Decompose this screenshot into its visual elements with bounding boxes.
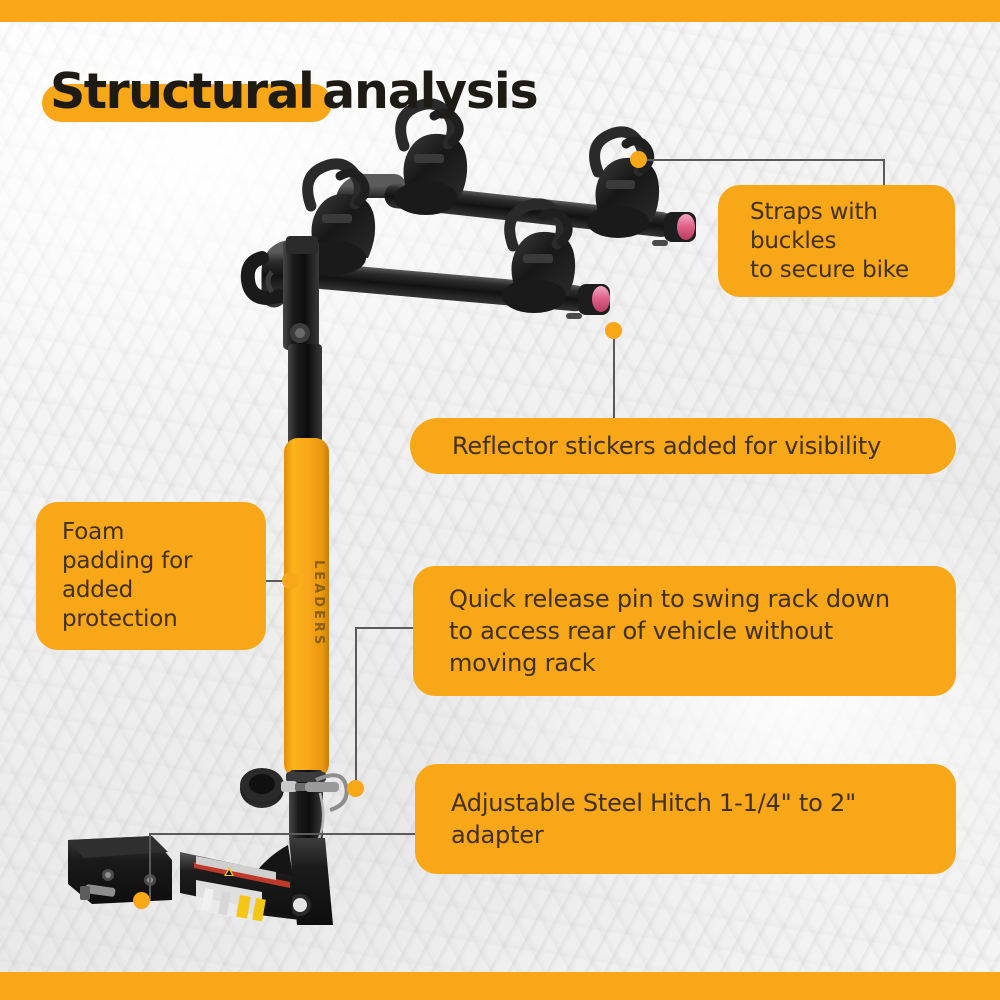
callout-straps-with-buckles[interactable]: Straps with buckles to secure bike — [718, 185, 955, 297]
title-word-structural: Structural — [50, 63, 313, 120]
bike-cradle-upper-right — [587, 132, 659, 238]
leader-adapter-horizontal — [149, 833, 417, 835]
adjustment-knob — [240, 770, 284, 808]
reflector-sticker-upper — [677, 214, 695, 240]
callout-line: added — [62, 576, 266, 605]
strap-lower-mid — [510, 204, 562, 246]
leader-straps-vertical — [883, 159, 885, 187]
rack-lower-arm — [248, 252, 610, 319]
callout-line: buckles — [750, 227, 955, 256]
reflector-sticker-lower — [592, 286, 610, 312]
callout-line: moving rack — [449, 647, 956, 679]
callout-line: Quick release pin to swing rack down — [449, 583, 956, 615]
strap-upper-left — [308, 164, 360, 206]
leader-reflector-vertical — [613, 338, 615, 420]
hotspot-dot-reflector — [605, 322, 622, 339]
page-title: Structuralanalysis — [50, 58, 537, 124]
pivot-bolt — [290, 323, 310, 343]
svg-text:LEADERS: LEADERS — [311, 560, 326, 647]
buckle-lower-mid — [523, 254, 553, 263]
hitch-shank — [180, 852, 292, 916]
hotspot-dot-quick-release — [347, 780, 364, 797]
stripe-decal — [194, 862, 290, 888]
hitch-pin-clip — [316, 775, 347, 810]
rack-upper-arm — [347, 182, 696, 246]
buckle-upper-right — [606, 180, 635, 189]
gusset-plate — [235, 845, 300, 920]
rack-mast: LEADERS — [283, 236, 329, 840]
foam-padding — [284, 438, 329, 778]
callout-line: adapter — [451, 819, 956, 851]
callout-line: Straps with — [750, 198, 955, 227]
title-text: Structuralanalysis — [50, 63, 537, 120]
callout-line: protection — [62, 605, 266, 634]
buckle-upper-left — [322, 214, 352, 223]
title-word-analysis: analysis — [322, 63, 537, 120]
infographic-page: Structuralanalysis — [0, 0, 1000, 1000]
callout-reflector-stickers[interactable]: Reflector stickers added for visibility — [410, 418, 956, 474]
leader-quick-vertical — [355, 627, 357, 789]
callout-line: Reflector stickers added for visibility — [452, 432, 956, 461]
callout-line: Adjustable Steel Hitch 1-1/4" to 2" — [451, 787, 956, 819]
hotspot-dot-foam — [282, 572, 299, 589]
hitch-base — [68, 836, 333, 925]
warning-label — [196, 880, 262, 922]
callout-line: Foam — [62, 518, 266, 547]
callout-quick-release-pin[interactable]: Quick release pin to swing rack down to … — [413, 566, 956, 696]
hotspot-dot-straps — [630, 151, 647, 168]
callout-foam-padding[interactable]: Foam padding for added protection — [36, 502, 266, 650]
callout-line: to secure bike — [750, 256, 955, 285]
leader-straps-horizontal — [645, 159, 884, 161]
bottom-accent-bar — [0, 972, 1000, 1000]
bike-cradle-lower-mid — [502, 204, 575, 313]
quick-release-assembly — [240, 768, 347, 875]
hitch-receiver — [68, 836, 172, 904]
callout-line: padding for — [62, 547, 266, 576]
callout-adjustable-steel-hitch[interactable]: Adjustable Steel Hitch 1-1/4" to 2" adap… — [415, 764, 956, 874]
hotspot-dot-adapter — [133, 892, 150, 909]
buckle-upper-mid — [414, 154, 444, 163]
quick-release-pin — [305, 782, 339, 792]
callout-line: to access rear of vehicle without — [449, 615, 956, 647]
leader-adapter-vertical — [149, 833, 151, 901]
leader-quick-horizontal — [355, 627, 415, 629]
bike-cradle-upper-left — [302, 164, 375, 275]
top-accent-bar — [0, 0, 1000, 22]
